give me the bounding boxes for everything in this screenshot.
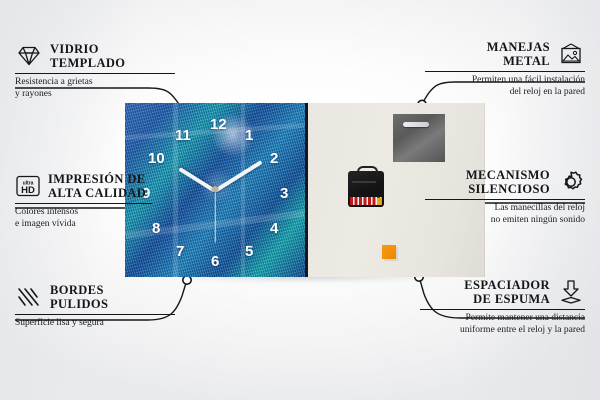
callout-title: MANEJAS METAL (487, 40, 550, 68)
callout-desc-1: Colores intensos (15, 207, 152, 219)
clock-number-1: 1 (245, 128, 253, 143)
callout-header: ESPACIADOR DE ESPUMA (420, 278, 585, 306)
callout-manejas-metal: MANEJAS METAL Permiten una fácil instala… (425, 40, 585, 98)
callout-espaciador-de-espuma: ESPACIADOR DE ESPUMA Permite mantener un… (420, 278, 585, 336)
callout-title: MECANISMO SILENCIOSO (466, 168, 550, 196)
callout-rule (15, 203, 152, 204)
callout-rule (15, 314, 175, 315)
clock-number-2: 2 (270, 151, 278, 166)
callout-bordes-pulidos: BORDES PULIDOS Superficie lisa y segura (15, 283, 175, 330)
mechanism-hook (357, 166, 378, 177)
callout-mecanismo-silencioso: MECANISMO SILENCIOSO Las manecillas del … (425, 168, 585, 226)
clock-number-11: 11 (175, 128, 191, 143)
clock-minute-hand (214, 160, 263, 193)
callout-rule (425, 199, 585, 200)
callout-desc-1: Superficie lisa y segura (15, 318, 175, 330)
mechanism-marker (377, 198, 381, 205)
callout-rule (15, 73, 175, 74)
callout-header: ultra HD IMPRESIÓN DE ALTA CALIDAD (15, 172, 152, 200)
diamond-icon (15, 44, 43, 68)
quartz-mechanism-box (348, 171, 384, 207)
clock-number-12: 12 (210, 117, 227, 132)
callout-desc-2: uniforme entre el reloj y la pared (420, 325, 585, 337)
callout-vidrio-templado: VIDRIO TEMPLADO Resistencia a grietas y … (15, 42, 175, 100)
callout-desc-2: y rayones (15, 89, 175, 101)
clock-second-hand (214, 191, 215, 243)
clock-number-10: 10 (148, 151, 165, 166)
foam-spacer-arrow-icon (557, 279, 585, 305)
clock-number-7: 7 (176, 244, 184, 259)
polished-edges-icon (15, 285, 43, 309)
callout-desc-1: Permiten una fácil instalación (425, 75, 585, 87)
callout-rule (425, 71, 585, 72)
gear-icon (557, 169, 585, 195)
callout-title: VIDRIO TEMPLADO (50, 42, 125, 70)
clock-number-6: 6 (211, 254, 219, 269)
clock-number-4: 4 (270, 221, 278, 236)
callout-header: MECANISMO SILENCIOSO (425, 168, 585, 196)
metal-hanger-plate (393, 114, 445, 162)
foam-spacer (382, 245, 396, 259)
callout-desc-2: del reloj en la pared (425, 87, 585, 99)
clock-hour-hand (178, 167, 216, 193)
infographic-canvas: 12 1 2 3 4 5 6 7 8 9 10 11 (0, 0, 600, 400)
callout-header: VIDRIO TEMPLADO (15, 42, 175, 70)
wall-mount-frame-icon (557, 42, 585, 66)
clock-center-pin (212, 186, 218, 192)
callout-desc-1: Las manecillas del reloj (425, 203, 585, 215)
callout-header: BORDES PULIDOS (15, 283, 175, 311)
callout-impresion-alta-calidad: ultra HD IMPRESIÓN DE ALTA CALIDAD Color… (15, 172, 152, 230)
callout-rule (420, 309, 585, 310)
clock-number-3: 3 (280, 186, 288, 201)
callout-title: ESPACIADOR DE ESPUMA (464, 278, 550, 306)
callout-desc-2: e imagen vívida (15, 219, 152, 231)
callout-header: MANEJAS METAL (425, 40, 585, 68)
clock-number-5: 5 (245, 244, 253, 259)
clock-face: 12 1 2 3 4 5 6 7 8 9 10 11 (125, 103, 308, 277)
callout-desc-1: Resistencia a grietas (15, 77, 175, 89)
mechanism-seam (352, 181, 376, 183)
callout-title: IMPRESIÓN DE ALTA CALIDAD (48, 172, 146, 200)
hanger-slot (403, 122, 429, 127)
callout-desc-2: no emiten ningún sonido (425, 215, 585, 227)
svg-text:HD: HD (21, 185, 35, 196)
callout-title: BORDES PULIDOS (50, 283, 108, 311)
clock-number-8: 8 (152, 221, 160, 236)
callout-desc-1: Permite mantener una distancia (420, 313, 585, 325)
ultra-hd-icon: ultra HD (15, 174, 41, 198)
